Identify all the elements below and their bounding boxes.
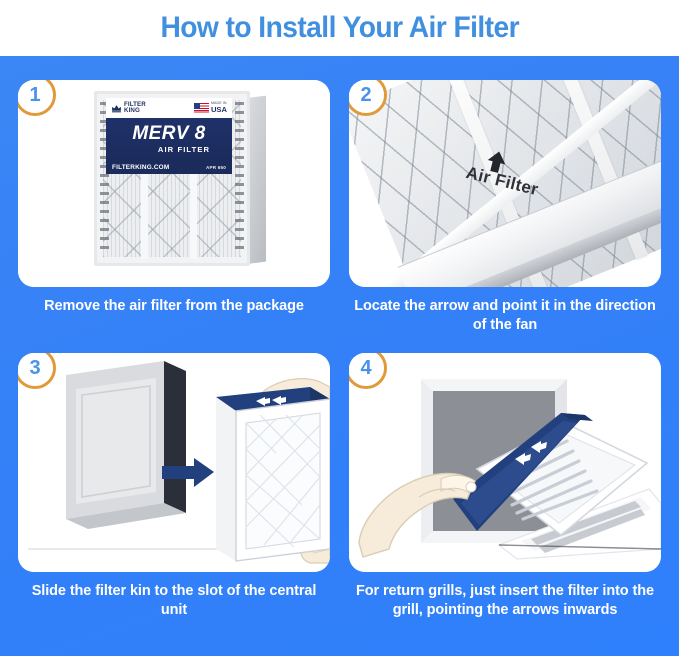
step-2-card: Air Filter 2 <box>349 80 661 287</box>
usa-flag-icon <box>194 103 209 113</box>
step-4-card: 4 <box>349 353 661 572</box>
infographic-page: How to Install Your Air Filter <box>0 0 679 656</box>
made-in-usa-badge: MADE IN USA <box>194 102 227 113</box>
crown-icon <box>111 103 122 114</box>
step-2-image: Air Filter <box>349 80 661 287</box>
page-title: How to Install Your Air Filter <box>160 11 519 45</box>
step-2: Air Filter 2 Locate the arrow and point … <box>349 80 661 335</box>
filter-label-header: FILTER KING <box>106 98 232 118</box>
step-4-caption: For return grills, just insert the filte… <box>349 582 661 620</box>
brand-name: FILTER KING <box>124 102 146 115</box>
air-filter-product-icon: FILTER KING <box>94 91 266 266</box>
step-2-caption: Locate the arrow and point it in the dir… <box>349 297 661 335</box>
step-4-number: 4 <box>360 358 371 378</box>
country-text: USA <box>211 106 227 114</box>
steps-background: FILTER KING <box>0 56 679 656</box>
merv-rating: MERV 8 <box>132 124 205 143</box>
filter-label: FILTER KING <box>106 98 232 174</box>
step-1-card: FILTER KING <box>18 80 330 287</box>
step-4-image <box>349 353 661 572</box>
usa-text: MADE IN USA <box>211 102 227 113</box>
filter-corner-photo: Air Filter <box>349 80 661 287</box>
product-type: AIR FILTER <box>158 145 210 154</box>
slide-filter-illustration <box>18 353 330 572</box>
step-1-number: 1 <box>29 85 40 105</box>
return-grill-illustration <box>349 353 661 572</box>
website-text: FILTERKING.COM <box>112 164 169 171</box>
step-1: FILTER KING <box>18 80 330 316</box>
step-3-caption: Slide the filter kin to the slot of the … <box>18 582 330 620</box>
brand-line-2: KING <box>124 107 140 114</box>
filter-pleat-ticks-right <box>235 102 244 255</box>
step-3-card: 3 <box>18 353 330 572</box>
filter-label-footer: FILTERKING.COM APR 650 <box>106 160 232 174</box>
step-3-number: 3 <box>29 358 40 378</box>
step-3-image <box>18 353 330 572</box>
apr-rating: APR 650 <box>206 165 226 170</box>
step-1-caption: Remove the air filter from the package <box>18 297 330 316</box>
header: How to Install Your Air Filter <box>0 0 679 56</box>
step-3: 3 Slide the filter kin to the slot of th… <box>18 353 330 620</box>
central-unit-slot-icon <box>66 361 186 529</box>
brand-lockup: FILTER KING <box>111 102 146 115</box>
filter-label-main: MERV 8 AIR FILTER <box>106 118 232 160</box>
air-filter-icon <box>216 387 330 561</box>
step-2-number: 2 <box>360 85 371 105</box>
steps-grid: FILTER KING <box>0 56 679 656</box>
step-1-image: FILTER KING <box>18 80 330 287</box>
step-4: 4 For return grills, just insert the fil… <box>349 353 661 620</box>
